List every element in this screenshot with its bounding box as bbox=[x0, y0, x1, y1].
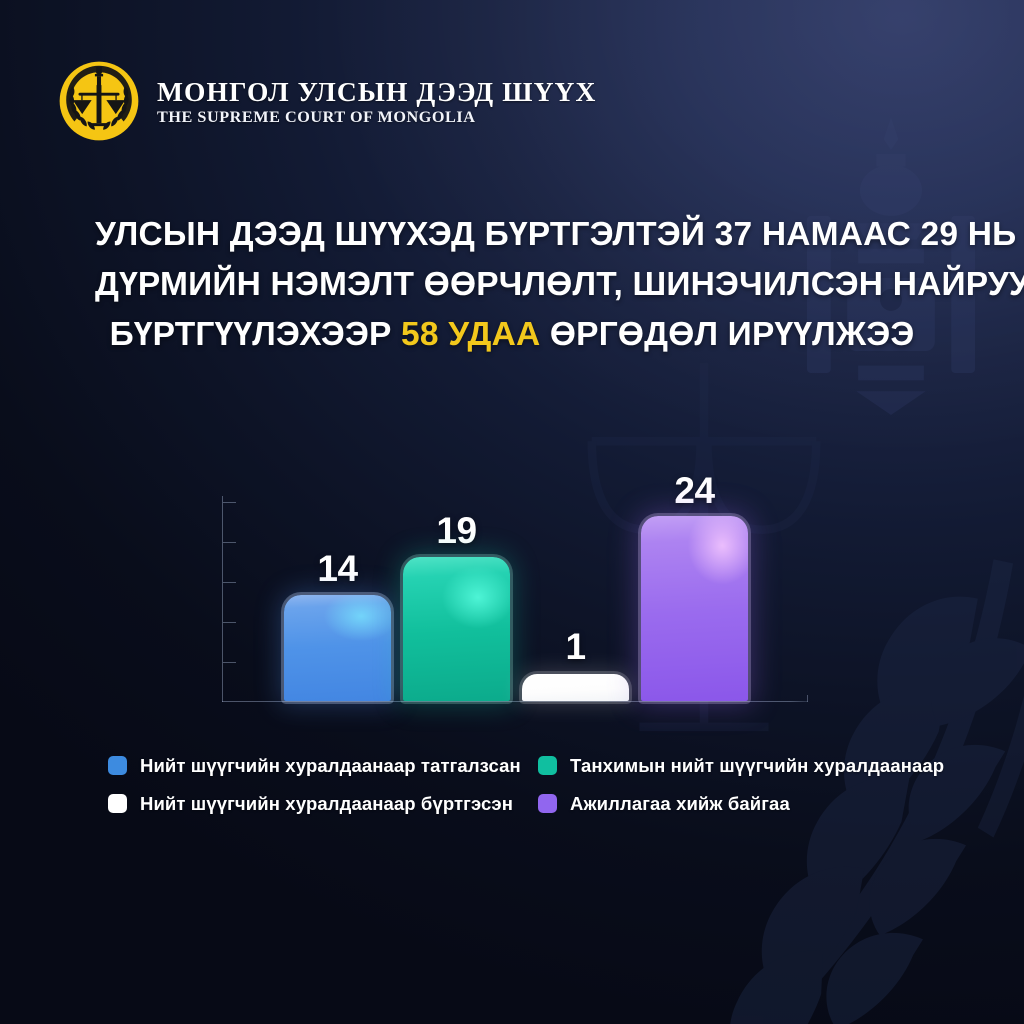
chart-y-axis bbox=[222, 496, 223, 702]
y-axis-tick bbox=[223, 622, 236, 623]
bar-value-label-3: 24 bbox=[641, 472, 748, 509]
legend-item-2[interactable]: Нийт шүүгчийн хуралдаанаар бүртгэсэн bbox=[108, 793, 538, 814]
bar-chart: 14 19 1 24 bbox=[222, 496, 808, 702]
legend-swatch-white-icon bbox=[108, 794, 127, 813]
legend-swatch-blue-icon bbox=[108, 756, 127, 775]
y-axis-tick bbox=[223, 662, 236, 663]
headline-line-3-post: ӨРГӨДӨЛ ИРҮҮЛЖЭЭ bbox=[540, 316, 914, 353]
bar-group-2[interactable]: 1 bbox=[522, 496, 629, 701]
headline-line-3: БҮРТГҮҮЛЭХЭЭР 58 УДАА ӨРГӨДӨЛ ИРҮҮЛЖЭЭ bbox=[95, 310, 929, 360]
chart-plot-area: 14 19 1 24 bbox=[284, 496, 748, 701]
headline-line-3-pre: БҮРТГҮҮЛЭХЭЭР bbox=[110, 316, 401, 353]
bar-1[interactable] bbox=[403, 557, 510, 701]
bar-group-1[interactable]: 19 bbox=[403, 496, 510, 701]
bar-group-0[interactable]: 14 bbox=[284, 496, 391, 701]
legend-swatch-purple-icon bbox=[538, 794, 557, 813]
legend-swatch-teal-icon bbox=[538, 756, 557, 775]
page-title: УЛСЫН ДЭЭД ШҮҮХЭД БҮРТГЭЛТЭЙ 37 НАМААС 2… bbox=[0, 210, 1024, 360]
infographic-poster: МОНГОЛ УЛСЫН ДЭЭД ШҮҮХ THE SUPREME COURT… bbox=[0, 0, 1024, 1024]
org-name-block: МОНГОЛ УЛСЫН ДЭЭД ШҮҮХ THE SUPREME COURT… bbox=[157, 76, 596, 126]
legend-item-1[interactable]: Танхимын нийт шүүгчийн хуралдаанаар bbox=[538, 755, 944, 776]
legend-item-3[interactable]: Ажиллагаа хийж байгаа bbox=[538, 793, 944, 814]
y-axis-tick bbox=[223, 542, 236, 543]
bar-group-3[interactable]: 24 bbox=[641, 496, 748, 701]
bar-value-label-0: 14 bbox=[284, 550, 391, 587]
legend-label-2: Нийт шүүгчийн хуралдаанаар бүртгэсэн bbox=[140, 793, 513, 814]
y-axis-tick bbox=[223, 502, 236, 503]
legend-label-3: Ажиллагаа хийж байгаа bbox=[570, 793, 790, 814]
legend-label-1: Танхимын нийт шүүгчийн хуралдаанаар bbox=[570, 755, 944, 776]
header: МОНГОЛ УЛСЫН ДЭЭД ШҮҮХ THE SUPREME COURT… bbox=[58, 60, 596, 142]
bar-2[interactable] bbox=[522, 674, 629, 701]
bar-3[interactable] bbox=[641, 516, 748, 701]
bar-0[interactable] bbox=[284, 595, 391, 701]
headline-highlight: 58 УДАА bbox=[401, 316, 540, 353]
chart-x-axis bbox=[222, 701, 808, 702]
legend-item-0[interactable]: Нийт шүүгчийн хуралдаанаар татгалзсан bbox=[108, 755, 538, 776]
y-axis-tick bbox=[223, 582, 236, 583]
bar-value-label-1: 19 bbox=[403, 512, 510, 549]
chart-legend: Нийт шүүгчийн хуралдаанаар татгалзсан Та… bbox=[108, 755, 944, 815]
supreme-court-scales-emblem-icon bbox=[58, 60, 140, 142]
legend-label-0: Нийт шүүгчийн хуралдаанаар татгалзсан bbox=[140, 755, 521, 776]
org-name-english: THE SUPREME COURT OF MONGOLIA bbox=[157, 109, 596, 126]
org-name-mongolian: МОНГОЛ УЛСЫН ДЭЭД ШҮҮХ bbox=[157, 78, 596, 106]
headline-line-1: УЛСЫН ДЭЭД ШҮҮХЭД БҮРТГЭЛТЭЙ 37 НАМААС 2… bbox=[95, 210, 929, 260]
bar-value-label-2: 1 bbox=[522, 628, 629, 665]
headline-line-2: ДҮРМИЙН НЭМЭЛТ ӨӨРЧЛӨЛТ, ШИНЭЧИЛСЭН НАЙР… bbox=[95, 260, 929, 310]
